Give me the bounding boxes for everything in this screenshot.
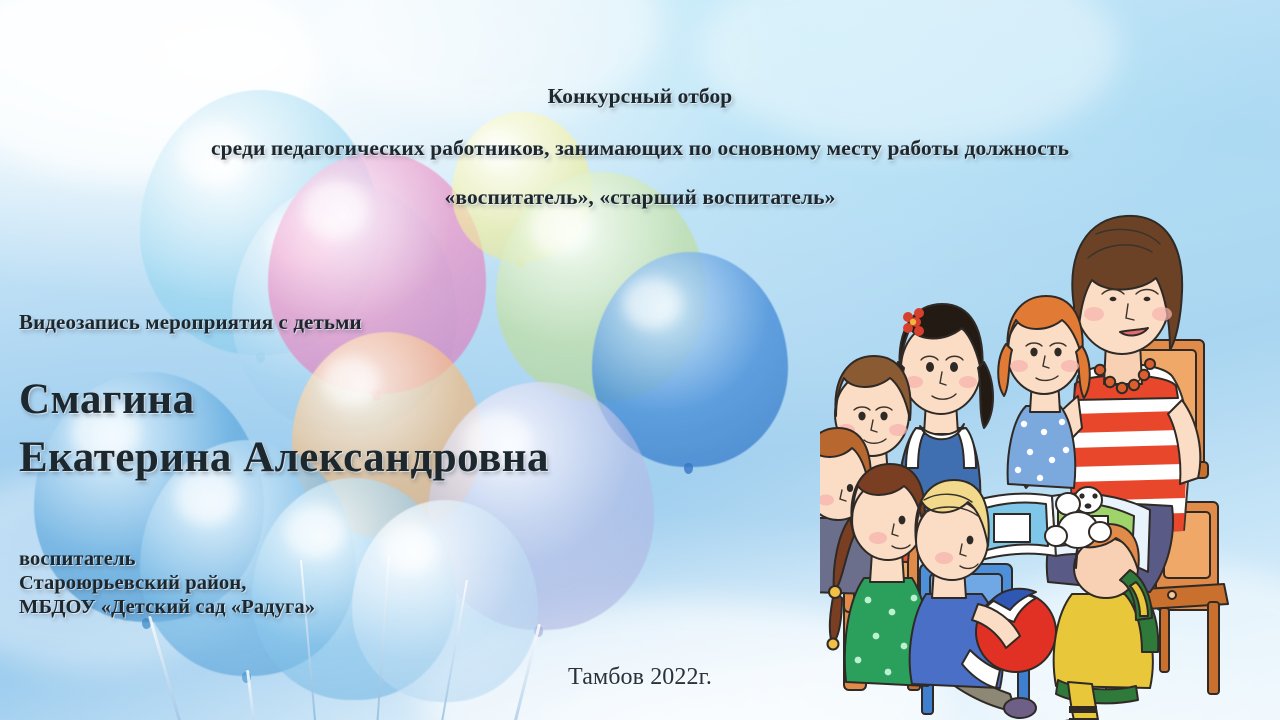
affiliation-district: Староюрьевский район, <box>19 572 247 595</box>
cloud-shape <box>700 0 1120 150</box>
affiliation-organization: МБДОУ «Детский сад «Радуга» <box>19 596 315 619</box>
heading-line-1: Конкурсный отбор <box>0 84 1280 109</box>
affiliation-role: воспитатель <box>19 548 136 571</box>
video-record-label: Видеозапись мероприятия с детьми <box>19 310 362 335</box>
presenter-surname: Смагина <box>19 375 195 424</box>
heading-line-2: среди педагогических работников, занимаю… <box>0 136 1280 161</box>
presentation-slide: Конкурсный отбор среди педагогических ра… <box>0 0 1280 720</box>
balloon-knot <box>684 463 693 474</box>
presenter-given-patronymic: Екатерина Александровна <box>19 433 549 482</box>
teacher-reading-illustration: .ol{stroke:#2f2a26;stroke-width:2;stroke… <box>820 200 1280 720</box>
